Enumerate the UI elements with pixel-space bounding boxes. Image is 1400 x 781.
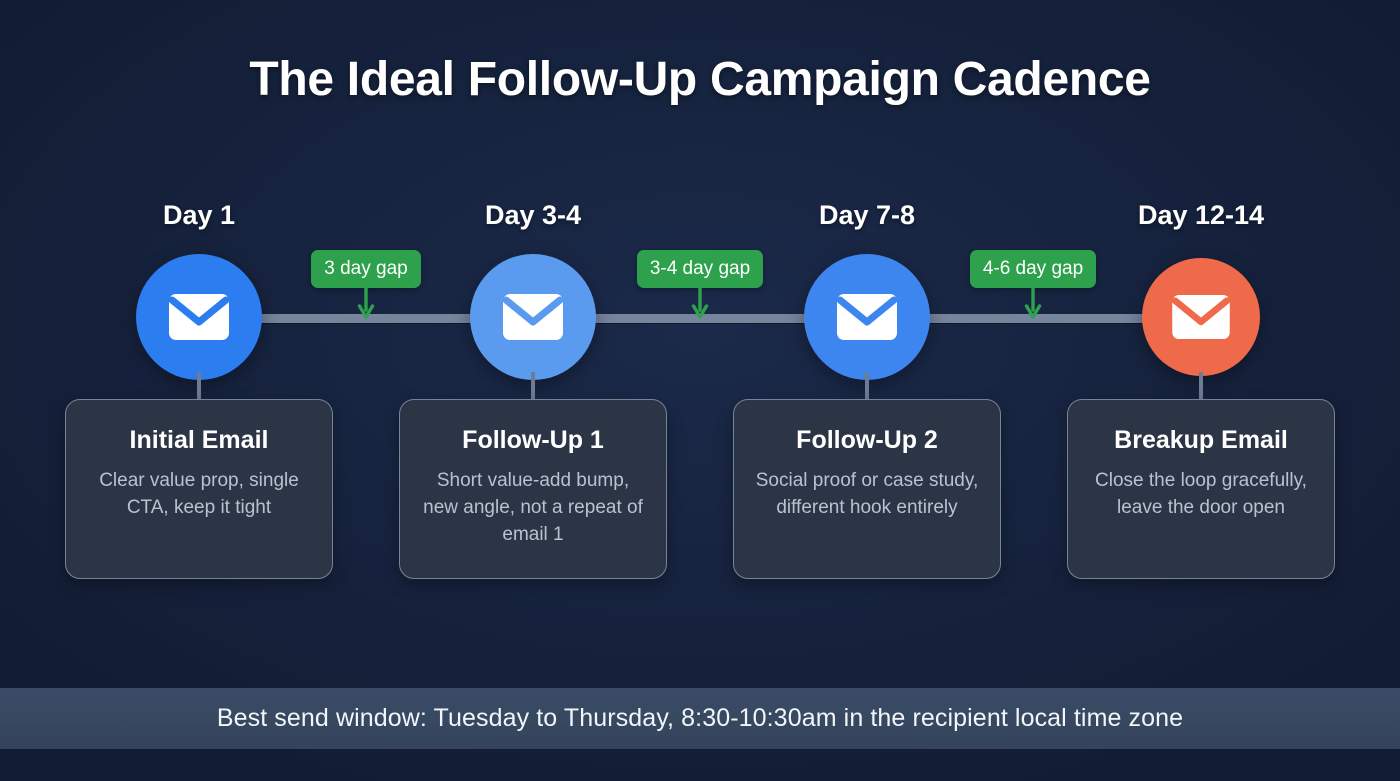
stage-2-card-desc: Short value-add bump, new angle, not a r…	[418, 467, 648, 548]
stage-1-day-label: Day 1	[59, 200, 339, 231]
stage-4-day-label: Day 12-14	[1061, 200, 1341, 231]
stage-1-card[interactable]: Initial Email Clear value prop, single C…	[65, 399, 333, 579]
stage-1-card-title: Initial Email	[84, 426, 314, 455]
envelope-icon	[836, 293, 898, 341]
down-arrow-icon	[691, 286, 709, 320]
stage-4-card[interactable]: Breakup Email Close the loop gracefully,…	[1067, 399, 1335, 579]
stage-3-day-label: Day 7-8	[727, 200, 1007, 231]
down-arrow-icon	[1024, 286, 1042, 320]
stage-2-circle[interactable]	[470, 254, 596, 380]
infographic-canvas: The Ideal Follow-Up Campaign Cadence Day…	[0, 0, 1400, 781]
stage-2-card-title: Follow-Up 1	[418, 426, 648, 455]
stage-2-card[interactable]: Follow-Up 1 Short value-add bump, new an…	[399, 399, 667, 579]
envelope-icon	[502, 293, 564, 341]
stage-3-card-desc: Social proof or case study, different ho…	[752, 467, 982, 521]
timeline-stage-4[interactable]: Day 12-14 Breakup Email Close the loop g…	[1061, 0, 1341, 781]
timeline-stage-1[interactable]: Day 1 Initial Email Clear value prop, si…	[59, 0, 339, 781]
stage-1-card-desc: Clear value prop, single CTA, keep it ti…	[84, 467, 314, 521]
down-arrow-icon	[357, 286, 375, 320]
stage-3-card[interactable]: Follow-Up 2 Social proof or case study, …	[733, 399, 1001, 579]
stage-4-circle[interactable]	[1142, 258, 1260, 376]
envelope-icon	[168, 293, 230, 341]
stage-1-circle[interactable]	[136, 254, 262, 380]
stage-4-card-desc: Close the loop gracefully, leave the doo…	[1086, 467, 1316, 521]
timeline-stage-3[interactable]: Day 7-8 Follow-Up 2 Social proof or case…	[727, 0, 1007, 781]
stage-3-circle[interactable]	[804, 254, 930, 380]
stage-4-card-title: Breakup Email	[1086, 426, 1316, 455]
timeline: Day 1 Initial Email Clear value prop, si…	[0, 0, 1400, 781]
envelope-icon	[1171, 294, 1231, 340]
stage-2-day-label: Day 3-4	[393, 200, 673, 231]
timeline-stage-2[interactable]: Day 3-4 Follow-Up 1 Short value-add bump…	[393, 0, 673, 781]
best-send-window-text: Best send window: Tuesday to Thursday, 8…	[217, 704, 1183, 733]
stage-3-card-title: Follow-Up 2	[752, 426, 982, 455]
footer-bar: Best send window: Tuesday to Thursday, 8…	[0, 688, 1400, 749]
